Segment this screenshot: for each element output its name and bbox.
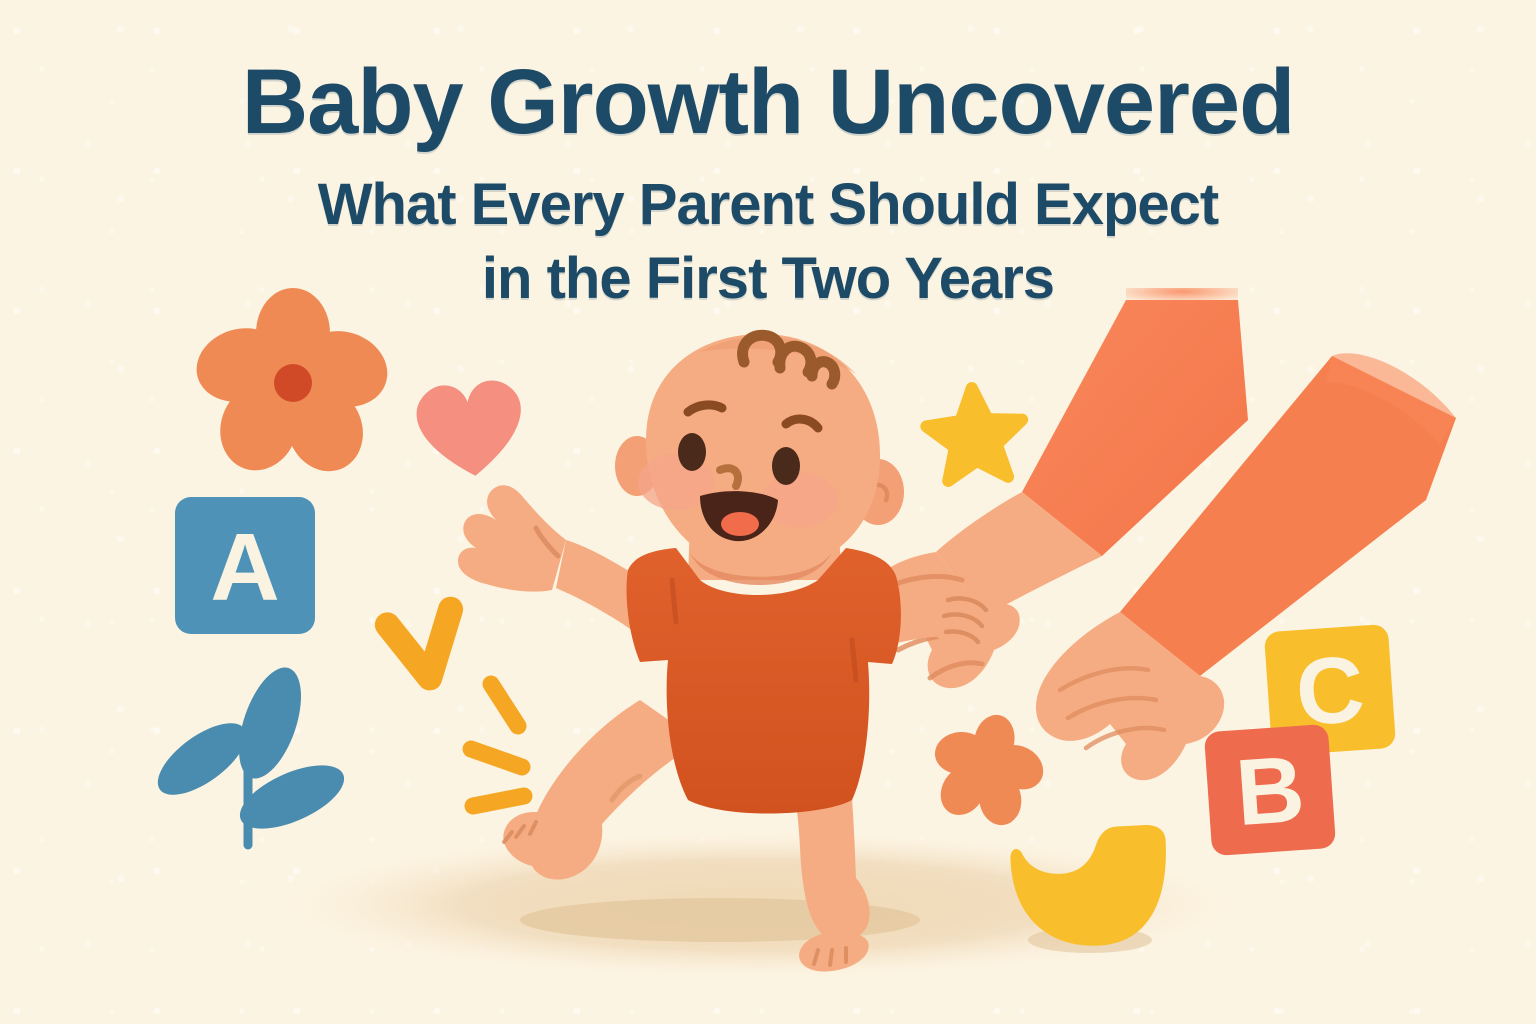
baby-tongue: [721, 512, 759, 536]
sleeve-fuzz-edge: [1126, 288, 1238, 306]
block-a-letter: A: [210, 514, 279, 621]
chevron-icon: [384, 605, 451, 679]
block-a-icon: A: [175, 497, 315, 634]
flower-center: [274, 364, 312, 402]
baby-hand-open: [458, 485, 566, 591]
baby-eye-right: [772, 447, 800, 485]
motion-dashes-icon: [471, 684, 524, 806]
poster-canvas: A: [0, 0, 1536, 1024]
block-b-icon: B: [1204, 724, 1336, 856]
baby-eye-left: [678, 433, 706, 471]
baby-hand-grip: [931, 589, 1001, 647]
star-icon: [924, 385, 1026, 482]
leaf-plant-icon: [146, 660, 353, 845]
illustration-artwork: A: [0, 0, 1536, 1024]
flower-small-right-icon: [917, 703, 1059, 839]
heart-icon: [414, 378, 528, 482]
flower-large-left-icon: [188, 288, 397, 483]
baby-onesie: [627, 548, 901, 814]
block-b-letter: B: [1233, 736, 1308, 845]
